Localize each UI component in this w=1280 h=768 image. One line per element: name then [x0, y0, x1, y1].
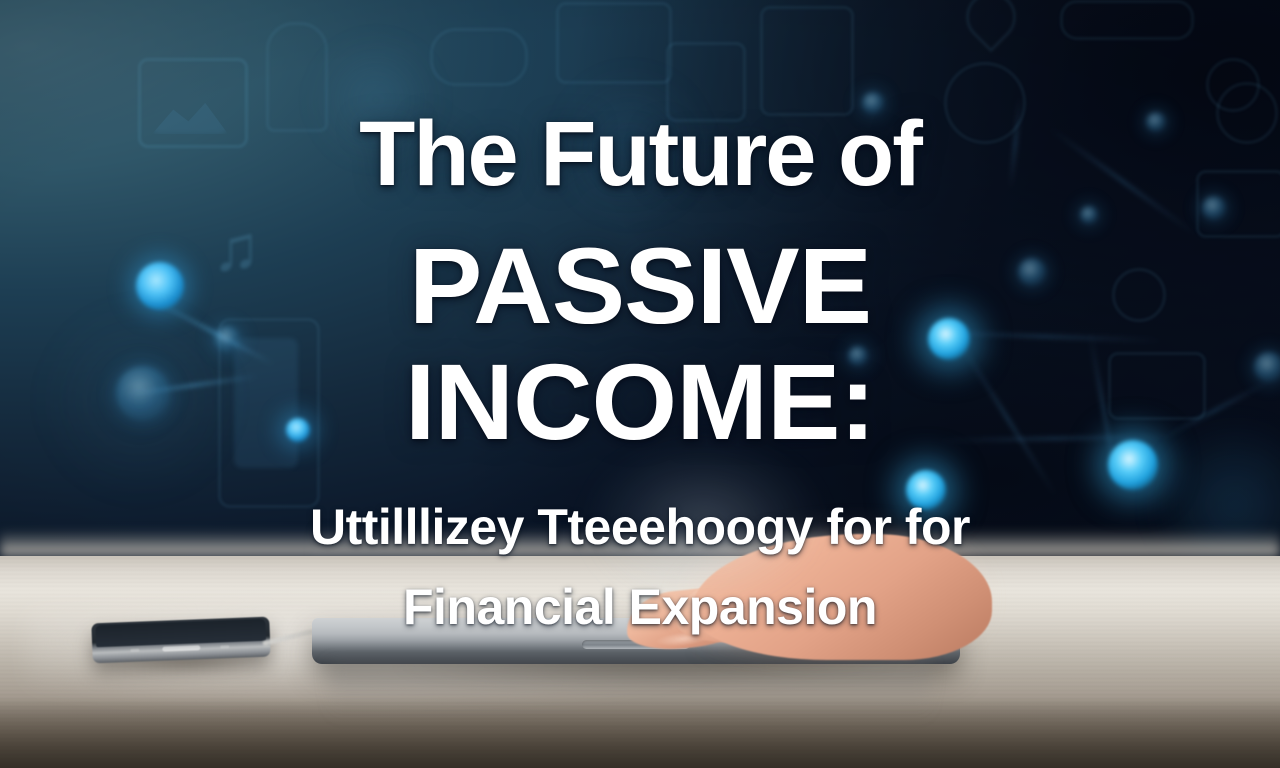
cloud-icon: [430, 28, 528, 86]
play-button-icon: [1206, 58, 1260, 112]
smartphone-port: [220, 645, 229, 648]
headline-line-3: INCOME:: [0, 348, 1280, 456]
network-node: [1080, 206, 1098, 224]
search-bar-icon: [1060, 0, 1194, 40]
subtitle-line-1: Uttilllizey Tteeehoogy for for: [0, 502, 1280, 552]
smartphone-port: [130, 649, 139, 652]
laptop-desk-reflection: [330, 664, 930, 722]
smartphone-speaker-grille: [162, 645, 200, 651]
headline-line-1: The Future of: [0, 108, 1280, 200]
document-icon: [760, 6, 854, 116]
headline-line-2: PASSIVE: [0, 232, 1280, 340]
subtitle-line-2: Financial Expansion: [0, 582, 1280, 632]
poster-canvas: ♫: [0, 0, 1280, 768]
